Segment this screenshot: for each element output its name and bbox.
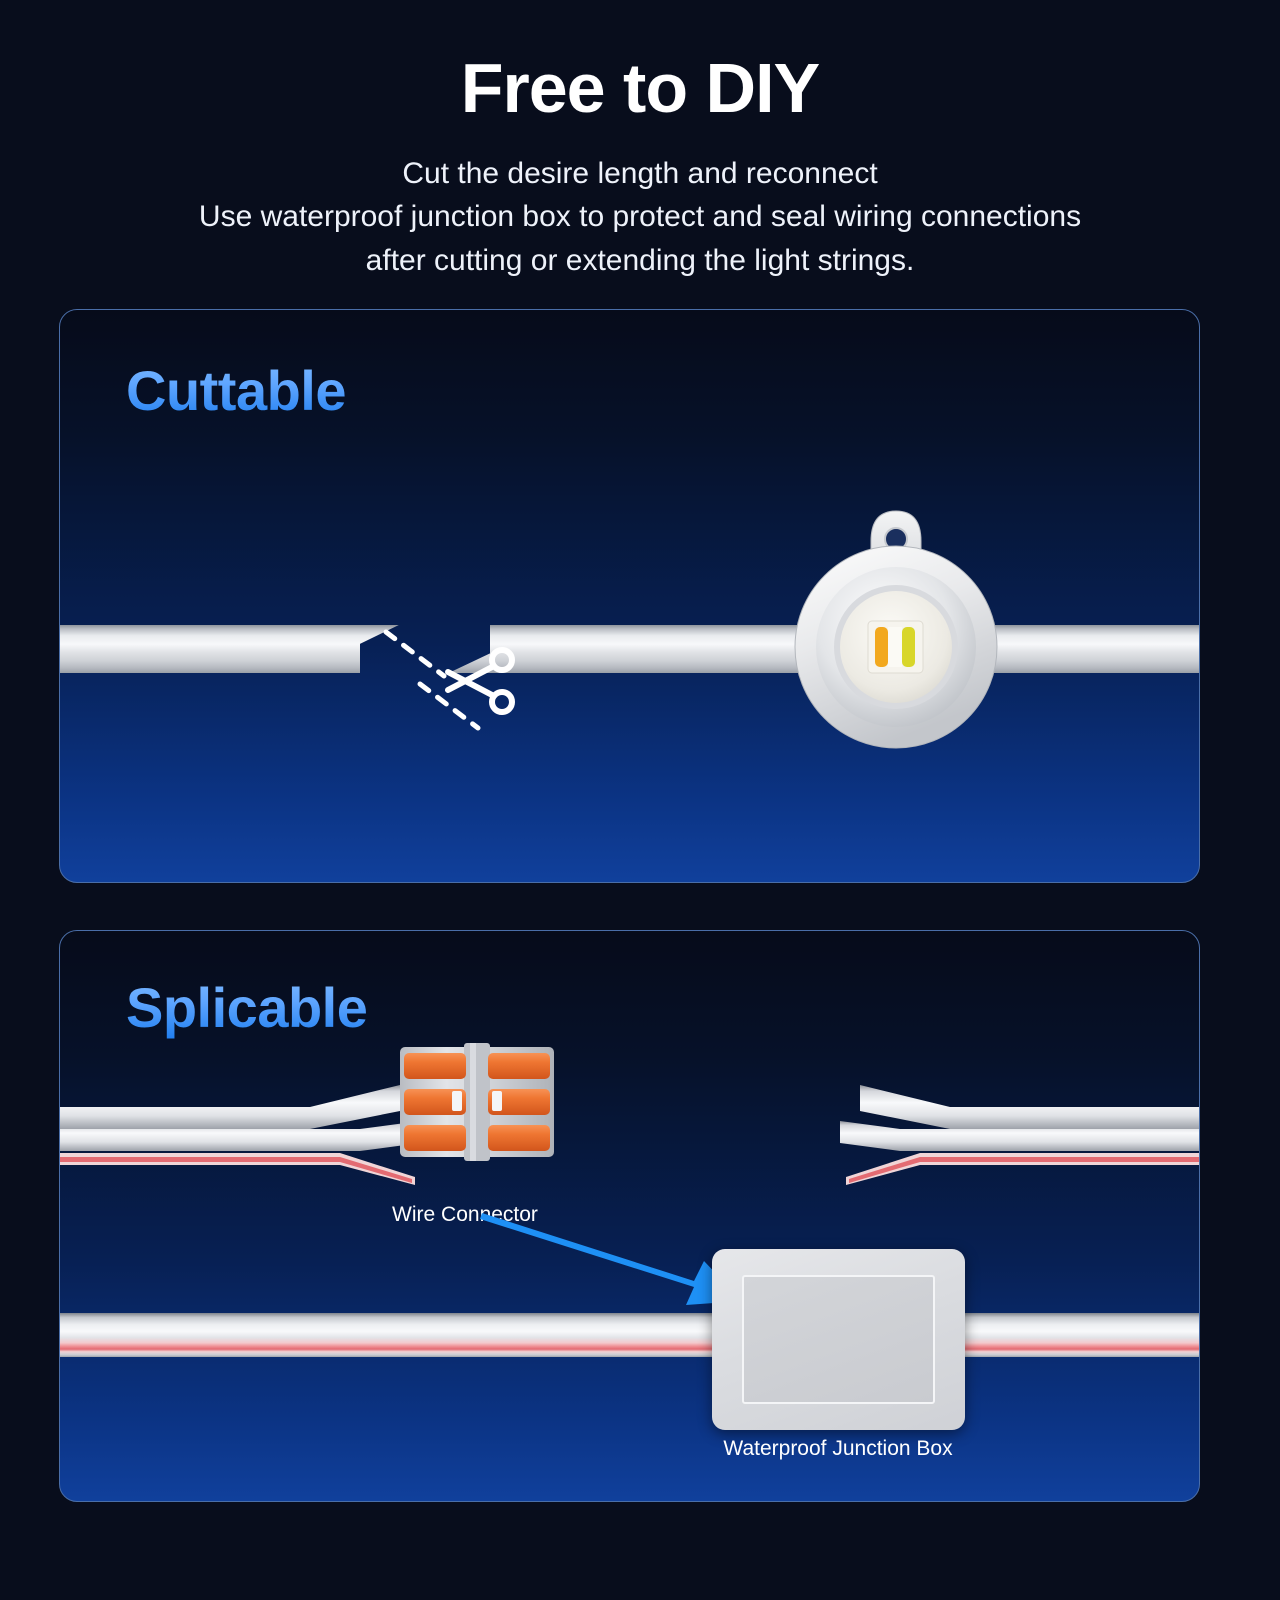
panel-cuttable: Cuttable: [59, 309, 1200, 883]
caption-junction-box: Waterproof Junction Box: [688, 1437, 988, 1461]
spliced-wire-icon: [60, 1081, 1200, 1201]
subtitle-line-1: Cut the desire length and reconnect: [0, 152, 1280, 196]
led-module-icon: [779, 505, 1013, 759]
header: Free to DIY Cut the desire length and re…: [0, 0, 1280, 282]
page-subtitle: Cut the desire length and reconnect Use …: [0, 152, 1280, 283]
waterproof-junction-box-icon: [712, 1249, 965, 1430]
page-title: Free to DIY: [0, 52, 1280, 126]
subtitle-line-2: Use waterproof junction box to protect a…: [0, 195, 1280, 239]
subtitle-line-3: after cutting or extending the light str…: [0, 239, 1280, 283]
wire-connector-icon: [382, 1041, 572, 1163]
panel-splicable: Splicable: [59, 930, 1200, 1502]
panel-heading-cuttable: Cuttable: [126, 358, 346, 423]
blue-arrow-icon: [480, 1209, 750, 1319]
scissors-icon: [382, 628, 552, 738]
lower-light-strip-icon: [60, 1313, 1200, 1357]
panel-heading-splicable: Splicable: [126, 975, 367, 1040]
junction-box-inner-panel: [742, 1275, 935, 1404]
